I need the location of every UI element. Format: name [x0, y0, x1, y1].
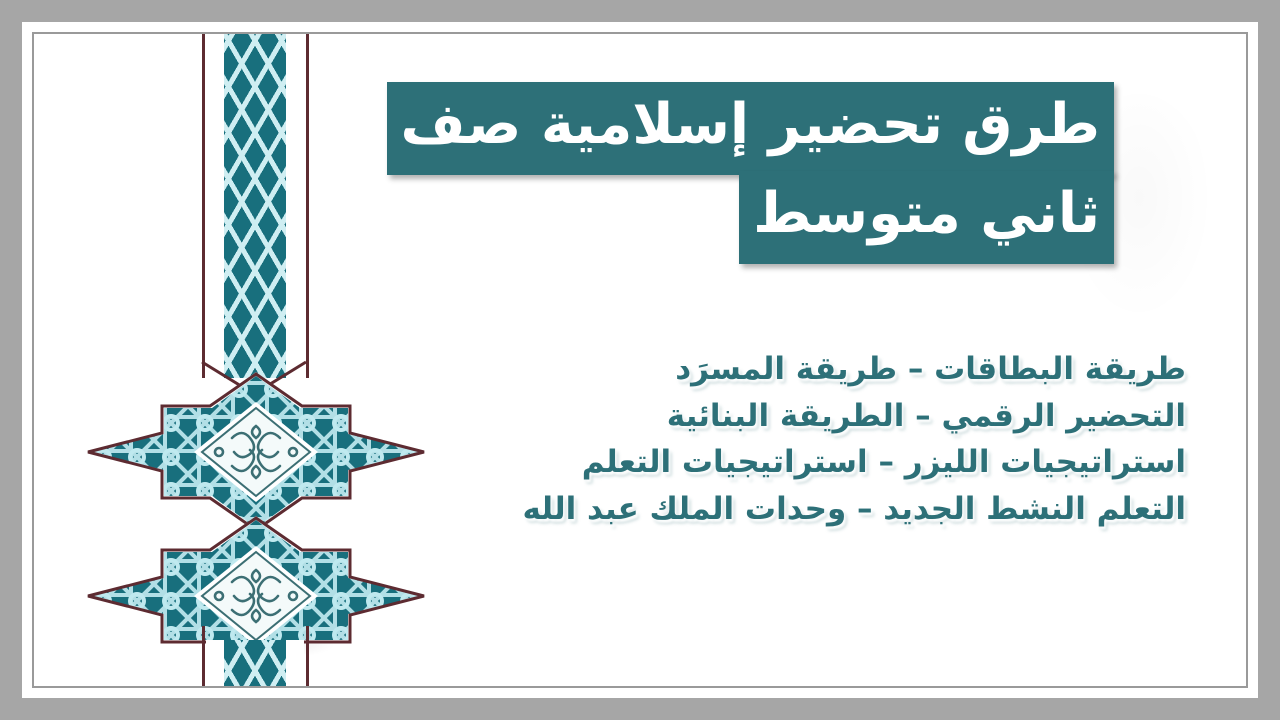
ribbon-tail-right-gap: [286, 640, 304, 686]
ribbon-tail-right-rule: [306, 626, 309, 686]
ribbon-tail-icon: [224, 640, 286, 686]
star-medallion-top-icon: [86, 372, 426, 532]
title-line-2: ثاني متوسط: [739, 171, 1114, 264]
ribbon-tail-left-rule: [202, 626, 205, 686]
ribbon-right-rule: [306, 34, 309, 378]
title-row-2: ثاني متوسط: [334, 171, 1114, 264]
slide-title: طرق تحضير إسلامية صف ثاني متوسط: [334, 82, 1114, 264]
slide-body-text: طريقة البطاقات – طريقة المسرَد التحضير ا…: [396, 346, 1186, 532]
body-line-4: التعلم النشط الجديد – وحدات الملك عبد ال…: [396, 486, 1186, 533]
ribbon-left-rule: [202, 34, 205, 378]
ribbon-left-gap: [206, 34, 224, 378]
title-row-1: طرق تحضير إسلامية صف: [334, 82, 1114, 175]
title-line-1: طرق تحضير إسلامية صف: [387, 82, 1114, 175]
body-line-1: طريقة البطاقات – طريقة المسرَد: [396, 346, 1186, 393]
ribbon-tail-left-gap: [206, 640, 224, 686]
body-line-3: استراتيجيات الليزر – استراتيجيات التعلم: [396, 439, 1186, 486]
ribbon-right-gap: [286, 34, 304, 378]
vertical-lattice-ribbon-icon: [224, 34, 286, 378]
slide-content-area: طرق تحضير إسلامية صف ثاني متوسط طريقة ال…: [34, 34, 1246, 686]
body-line-2: التحضير الرقمي – الطريقة البنائية: [396, 393, 1186, 440]
slide-canvas: طرق تحضير إسلامية صف ثاني متوسط طريقة ال…: [0, 0, 1280, 720]
